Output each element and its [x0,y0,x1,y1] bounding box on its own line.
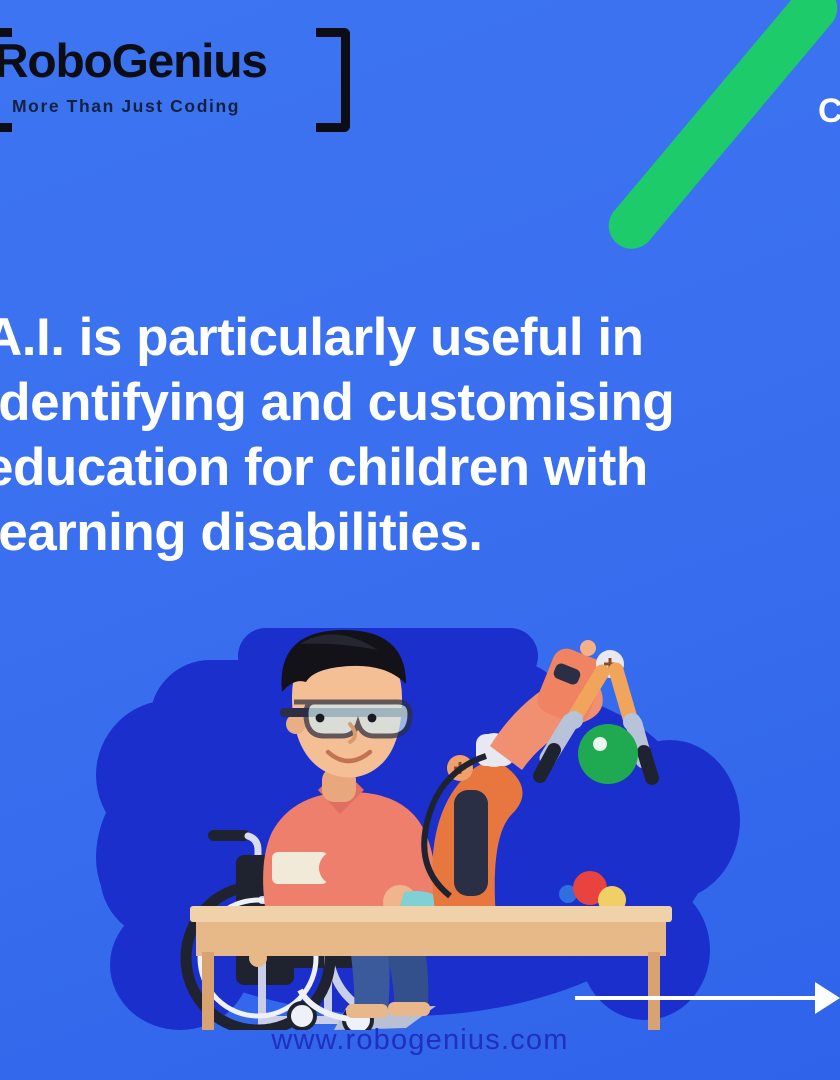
green-ball-icon [578,724,638,784]
poster-canvas: RoboGenius More Than Just Coding C A.I. … [0,0,840,1080]
green-diagonal-stripe-icon [599,0,840,258]
right-arrow-icon [815,982,840,1014]
head [280,630,410,802]
arrow-shaft-icon [575,996,823,1000]
headline-line-2: identifying and customising [0,370,840,435]
headline-line-3: education for children with [0,435,840,500]
robogenius-logo[interactable]: RoboGenius More Than Just Coding [0,28,350,132]
illustration-boy-with-robot-arm [150,600,710,1030]
headline-line-1: A.I. is particularly useful in [0,305,840,370]
cropped-corner-text: C [818,92,840,131]
website-url[interactable]: www.robogenius.com [0,1024,840,1057]
logo-tagline: More Than Just Coding [12,96,240,117]
headline-text: A.I. is particularly useful in identifyi… [0,305,840,565]
logo-wordmark: RoboGenius [0,34,331,88]
boy-figure [263,780,440,919]
headline-line-4: learning disabilities. [0,500,840,565]
